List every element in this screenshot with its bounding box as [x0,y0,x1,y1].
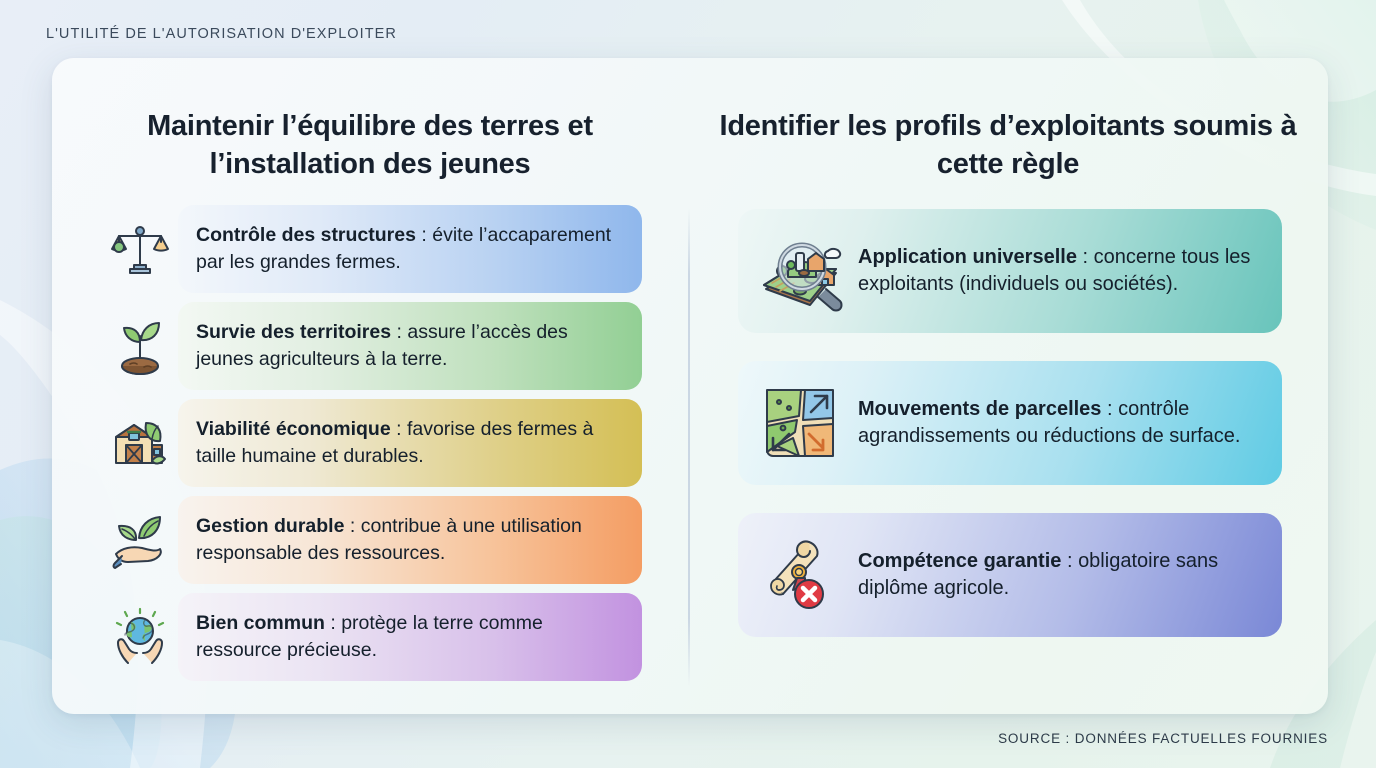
item-term: Mouvements de parcelles [858,398,1101,420]
item-term: Compétence garantie [858,550,1061,572]
parcel-map-arrows-icon [752,375,848,471]
item-separator: : [325,612,341,634]
item-separator: : [391,418,407,440]
right-items-list: Application universelle : concerne tous … [688,209,1328,637]
item-text: Viabilité économique : favorise des ferm… [196,416,622,470]
page-kicker: L'UTILITÉ DE L'AUTORISATION D'EXPLOITER [46,26,397,42]
magnifier-over-farmland-icon [752,223,848,319]
item-text: Contrôle des structures : évite l’accapa… [196,222,622,276]
pill-body: Application universelle : concerne tous … [738,209,1282,333]
source-label: SOURCE : DONNÉES FACTUELLES FOURNIES [998,731,1328,746]
item-term: Survie des territoires [196,321,391,343]
list-item[interactable]: Gestion durable : contribue à une utilis… [52,496,688,584]
left-items-list: Contrôle des structures : évite l’accapa… [52,205,688,681]
balance-scales-icon [104,213,176,285]
pill-body: Survie des territoires : assure l’accès … [178,302,642,390]
item-term: Gestion durable [196,515,344,537]
pill-body: Mouvements de parcelles : contrôle agran… [738,361,1282,485]
item-text: Gestion durable : contribue à une utilis… [196,513,622,567]
pill-body: Contrôle des structures : évite l’accapa… [178,205,642,293]
list-item[interactable]: Viabilité économique : favorise des ferm… [52,399,688,487]
infographic-canvas: L'UTILITÉ DE L'AUTORISATION D'EXPLOITER … [0,0,1376,768]
item-term: Application universelle [858,246,1077,268]
list-item[interactable]: Survie des territoires : assure l’accès … [52,302,688,390]
right-column: Identifier les profils d’exploitants sou… [688,58,1328,714]
item-separator: : [1101,398,1118,420]
column-divider [688,208,690,686]
list-item[interactable]: Mouvements de parcelles : contrôle agran… [688,361,1328,485]
list-item[interactable]: Compétence garantie : obligatoire sans d… [688,513,1328,637]
item-separator: : [416,224,432,246]
item-text: Application universelle : concerne tous … [858,244,1260,299]
item-text: Bien commun : protège la terre comme res… [196,610,622,664]
pill-body: Bien commun : protège la terre comme res… [178,593,642,681]
barn-farmhouse-leaf-icon [104,407,176,479]
list-item[interactable]: Application universelle : concerne tous … [688,209,1328,333]
item-text: Compétence garantie : obligatoire sans d… [858,548,1260,603]
item-separator: : [344,515,360,537]
pill-body: Compétence garantie : obligatoire sans d… [738,513,1282,637]
item-text: Mouvements de parcelles : contrôle agran… [858,396,1260,451]
item-separator: : [1077,246,1094,268]
seedling-sprout-icon [104,310,176,382]
pill-body: Gestion durable : contribue à une utilis… [178,496,642,584]
main-card: Maintenir l’équilibre des terres et l’in… [52,58,1328,714]
columns-wrapper: Maintenir l’équilibre des terres et l’in… [52,58,1328,714]
item-separator: : [391,321,407,343]
hands-holding-globe-icon [104,601,176,673]
list-item[interactable]: Bien commun : protège la terre comme res… [52,593,688,681]
item-separator: : [1061,550,1078,572]
left-column: Maintenir l’équilibre des terres et l’in… [52,58,688,714]
item-term: Viabilité économique [196,418,391,440]
right-column-title: Identifier les profils d’exploitants sou… [688,108,1328,183]
item-term: Bien commun [196,612,325,634]
item-text: Survie des territoires : assure l’accès … [196,319,622,373]
pill-body: Viabilité économique : favorise des ferm… [178,399,642,487]
diploma-scroll-denied-icon [752,527,848,623]
hand-holding-leaves-icon [104,504,176,576]
list-item[interactable]: Contrôle des structures : évite l’accapa… [52,205,688,293]
item-term: Contrôle des structures [196,224,416,246]
left-column-title: Maintenir l’équilibre des terres et l’in… [52,108,688,183]
